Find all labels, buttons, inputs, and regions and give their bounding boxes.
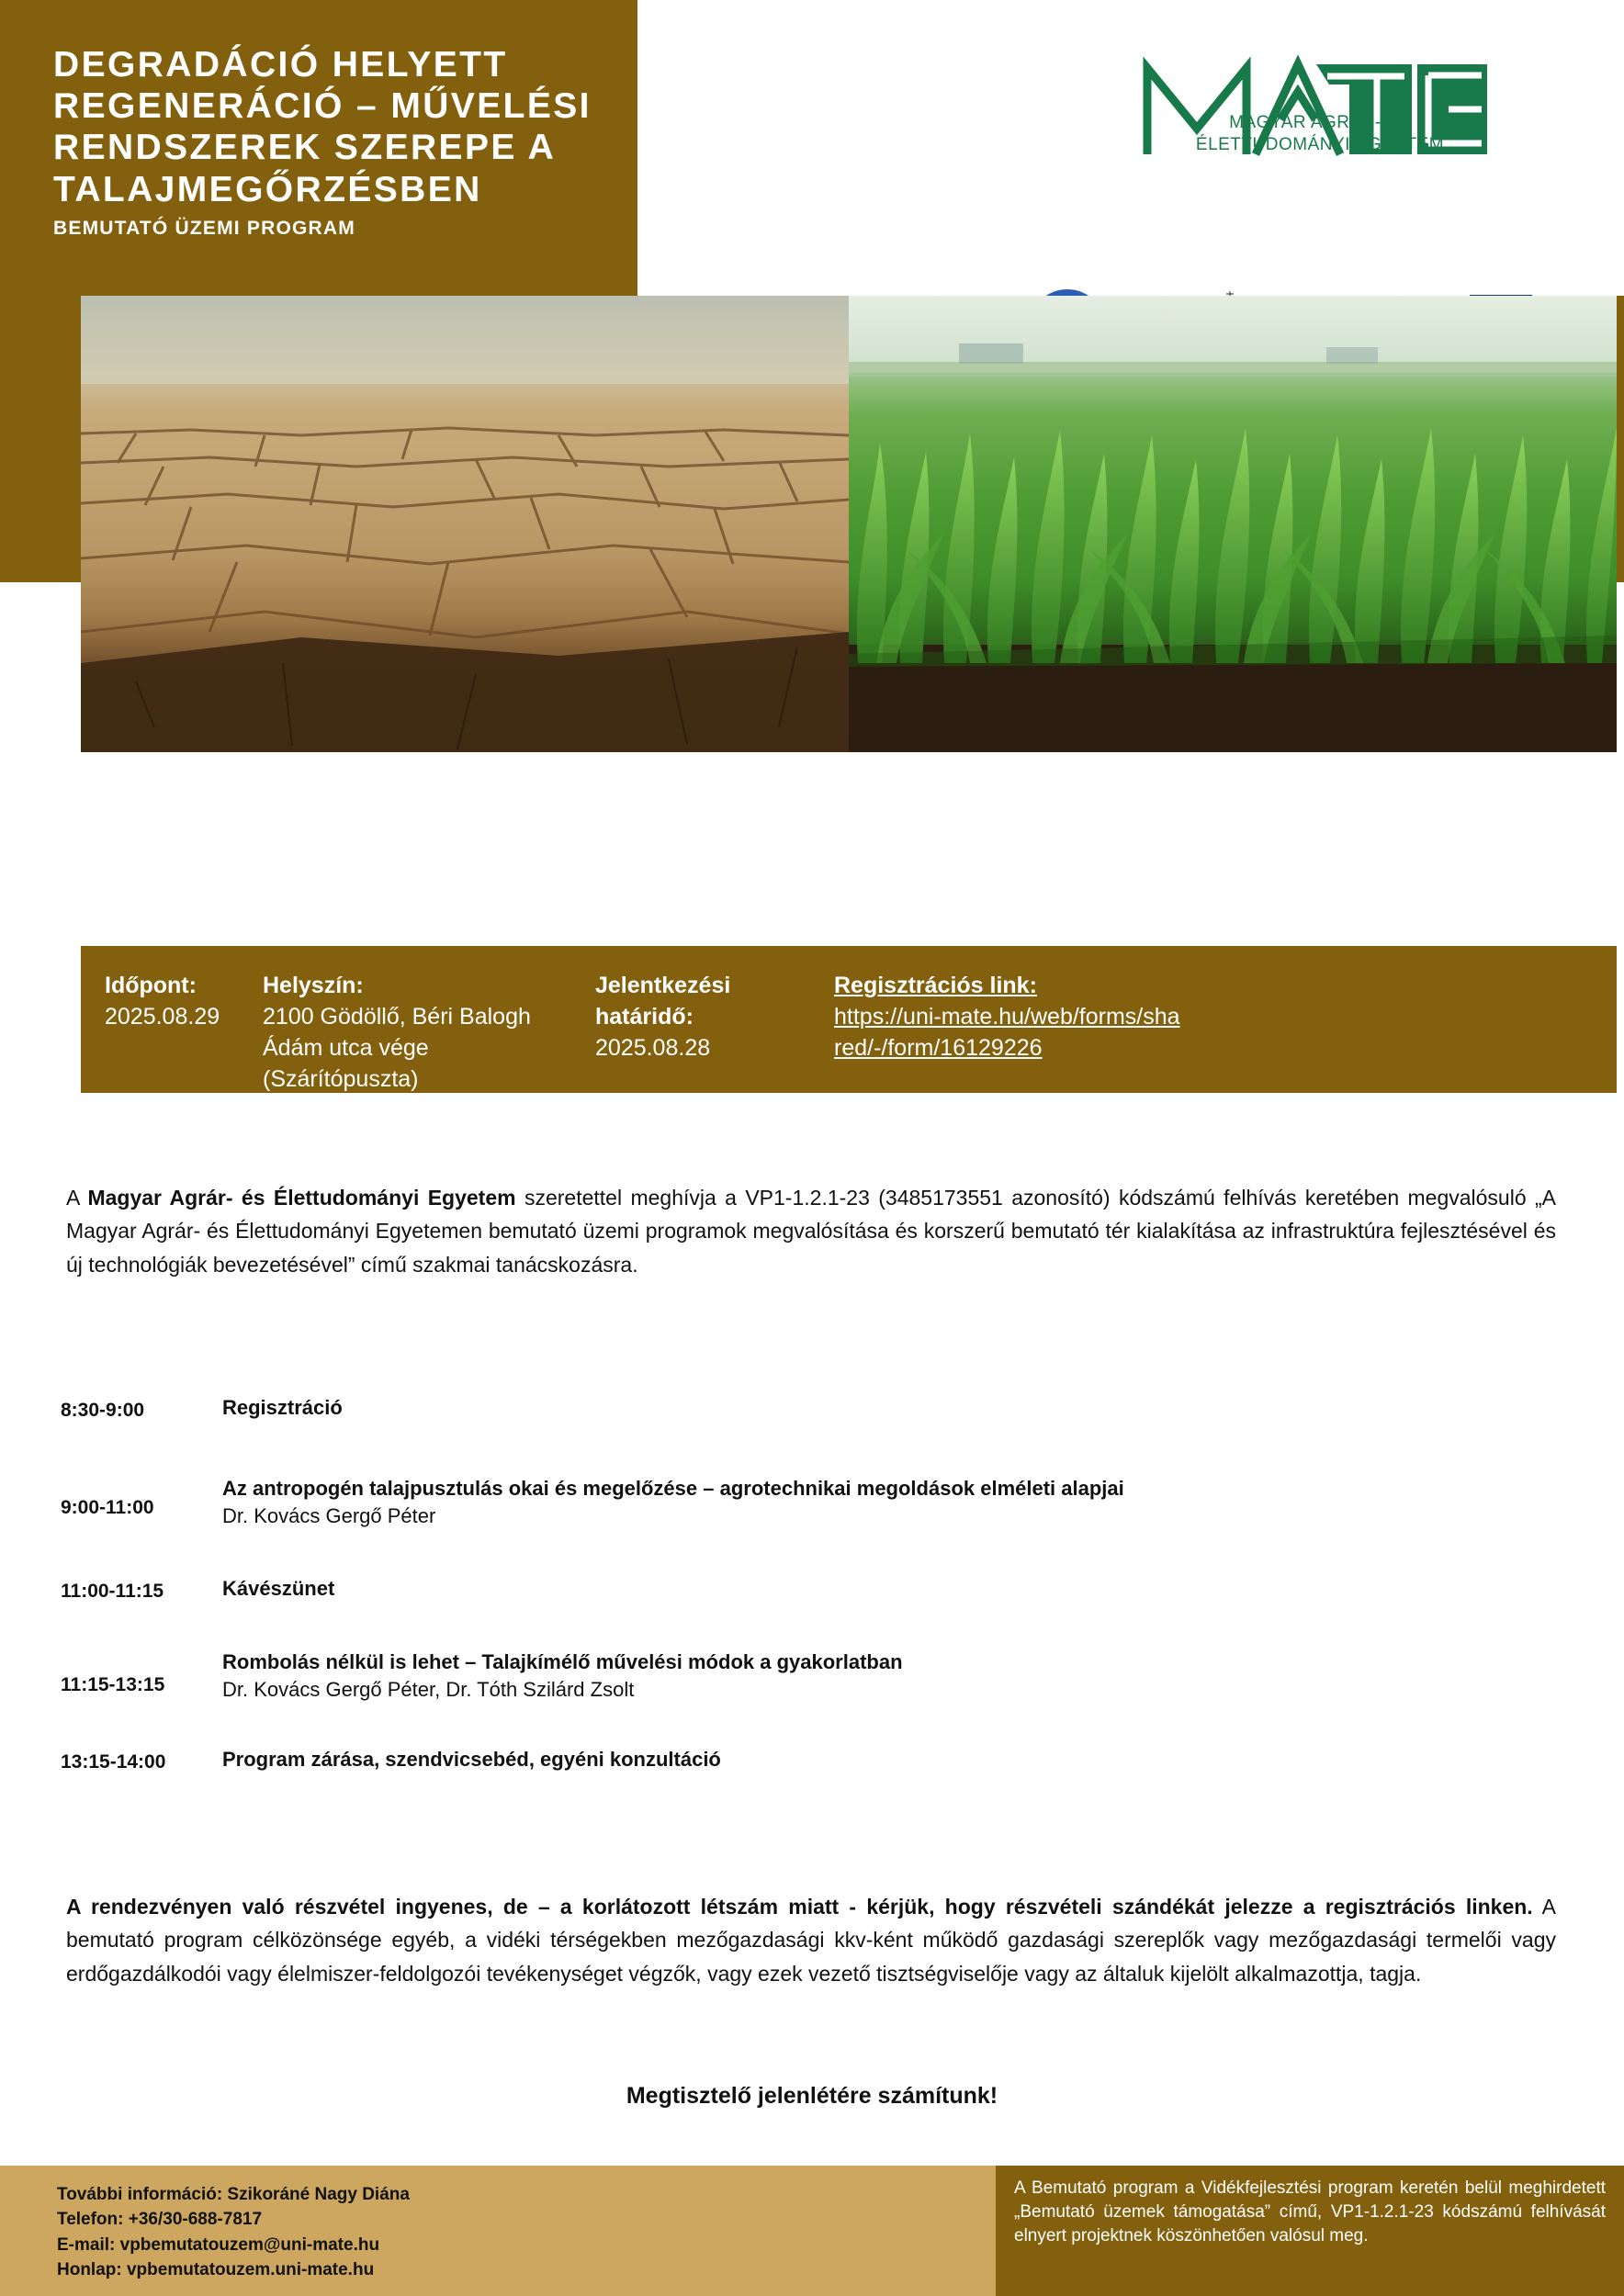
mate-name-line-1: MAGYAR AGRÁR- ÉS <box>1145 112 1494 134</box>
closing-bold: A rendezvényen való részvétel ingyenes, … <box>66 1895 1533 1919</box>
registration-url[interactable]: https://uni-mate.hu/web/forms/shared/-/f… <box>834 1001 1183 1064</box>
event-deadline-column: Jelentkezési határidő: 2025.08.28 <box>595 970 797 1064</box>
schedule-title: Rombolás nélkül is lehet – Talajkímélő m… <box>222 1650 1567 1675</box>
schedule-body: Az antropogén talajpusztulás okai és meg… <box>222 1477 1567 1529</box>
footer-email[interactable]: E-mail: vpbemutatouzem@uni-mate.hu <box>57 2233 410 2257</box>
footer-contact-block: További információ: Szikoráné Nagy Diána… <box>0 2166 996 2296</box>
intro-lead: A <box>66 1186 87 1210</box>
mate-logo-wordmark: MAGYAR AGRÁR- ÉS ÉLETTUDOMÁNYI EGYETEM <box>1145 112 1494 157</box>
schedule-row: 8:30-9:00 Regisztráció <box>61 1396 1567 1422</box>
footer-contact-person: További információ: Szikoráné Nagy Diána <box>57 2182 410 2207</box>
schedule-time: 11:00-11:15 <box>61 1577 222 1603</box>
event-date-value: 2025.08.29 <box>105 1001 261 1032</box>
schedule-title: Regisztráció <box>222 1396 1567 1421</box>
schedule-body: Regisztráció <box>222 1396 1567 1421</box>
schedule-row: 13:15-14:00 Program zárása, szendvicsebé… <box>61 1748 1567 1773</box>
event-date-label: Időpont: <box>105 970 261 1001</box>
dry-cracked-soil-half <box>81 296 849 752</box>
closing-paragraph: A rendezvényen való részvétel ingyenes, … <box>66 1890 1556 1990</box>
schedule-title: Kávészünet <box>222 1577 1567 1602</box>
event-date-column: Időpont: 2025.08.29 <box>105 970 261 1032</box>
footer-funding-block: A Bemutató program a Vidékfejlesztési pr… <box>996 2166 1624 2296</box>
event-details-columns: Időpont: 2025.08.29 Helyszín: 2100 Gödöl… <box>81 946 1617 1093</box>
schedule-body: Kávészünet <box>222 1577 1567 1602</box>
event-deadline-label-1: Jelentkezési <box>595 970 797 1001</box>
closing-cta: Megtisztelő jelenlétére számítunk! <box>0 2083 1624 2110</box>
event-venue-label: Helyszín: <box>263 970 538 1001</box>
schedule-title: Az antropogén talajpusztulás okai és meg… <box>222 1477 1567 1502</box>
page-title: DEGRADÁCIÓ HELYETT REGENERÁCIÓ – MŰVELÉS… <box>53 44 623 210</box>
schedule-time: 9:00-11:00 <box>61 1477 222 1519</box>
footer-contact-text: További információ: Szikoráné Nagy Diána… <box>57 2182 410 2282</box>
event-deadline-label-2: határidő: <box>595 1001 797 1032</box>
schedule-row: 9:00-11:00 Az antropogén talajpusztulás … <box>61 1477 1567 1529</box>
schedule-row: 11:15-13:15 Rombolás nélkül is lehet – T… <box>61 1650 1567 1703</box>
schedule-presenter: Dr. Kovács Gergő Péter <box>222 1503 1567 1530</box>
mate-name-line-2: ÉLETTUDOMÁNYI EGYETEM <box>1145 134 1494 156</box>
schedule-time: 8:30-9:00 <box>61 1396 222 1422</box>
poster-root: DEGRADÁCIÓ HELYETT REGENERÁCIÓ – MŰVELÉS… <box>0 0 1624 2296</box>
schedule-time: 13:15-14:00 <box>61 1748 222 1773</box>
green-crop-field-half <box>849 296 1617 752</box>
header-block: DEGRADÁCIÓ HELYETT REGENERÁCIÓ – MŰVELÉS… <box>0 0 637 296</box>
schedule-title: Program zárása, szendvicsebéd, egyéni ko… <box>222 1748 1567 1773</box>
schedule-row: 11:00-11:15 Kávészünet <box>61 1577 1567 1603</box>
schedule-body: Rombolás nélkül is lehet – Talajkímélő m… <box>222 1650 1567 1703</box>
footer-website[interactable]: Honlap: vpbemutatouzem.uni-mate.hu <box>57 2257 410 2282</box>
intro-org-name: Magyar Agrár- és Élettudományi Egyetem <box>87 1186 515 1210</box>
event-venue-value: 2100 Gödöllő, Béri Balogh Ádám utca vége… <box>263 1001 538 1095</box>
schedule-presenter: Dr. Kovács Gergő Péter, Dr. Tóth Szilárd… <box>222 1677 1567 1704</box>
footer-phone[interactable]: Telefon: +36/30-688-7817 <box>57 2207 410 2232</box>
page-subtitle: BEMUTATÓ ÜZEMI PROGRAM <box>53 218 355 240</box>
footer-funding-note: A Bemutató program a Vidékfejlesztési pr… <box>1014 2177 1606 2247</box>
event-deadline-value: 2025.08.28 <box>595 1032 797 1064</box>
banner-photo <box>81 296 1617 752</box>
registration-link-column: Regisztrációs link: https://uni-mate.hu/… <box>834 970 1183 1064</box>
registration-link-label[interactable]: Regisztrációs link: <box>834 970 1183 1001</box>
intro-paragraph: A Magyar Agrár- és Élettudományi Egyetem… <box>66 1181 1556 1281</box>
schedule-body: Program zárása, szendvicsebéd, egyéni ko… <box>222 1748 1567 1773</box>
event-venue-column: Helyszín: 2100 Gödöllő, Béri Balogh Ádám… <box>263 970 538 1095</box>
schedule-time: 11:15-13:15 <box>61 1650 222 1696</box>
program-schedule: 8:30-9:00 Regisztráció 9:00-11:00 Az ant… <box>61 1396 1567 1808</box>
event-details-bar: Időpont: 2025.08.29 Helyszín: 2100 Gödöl… <box>81 946 1617 1093</box>
